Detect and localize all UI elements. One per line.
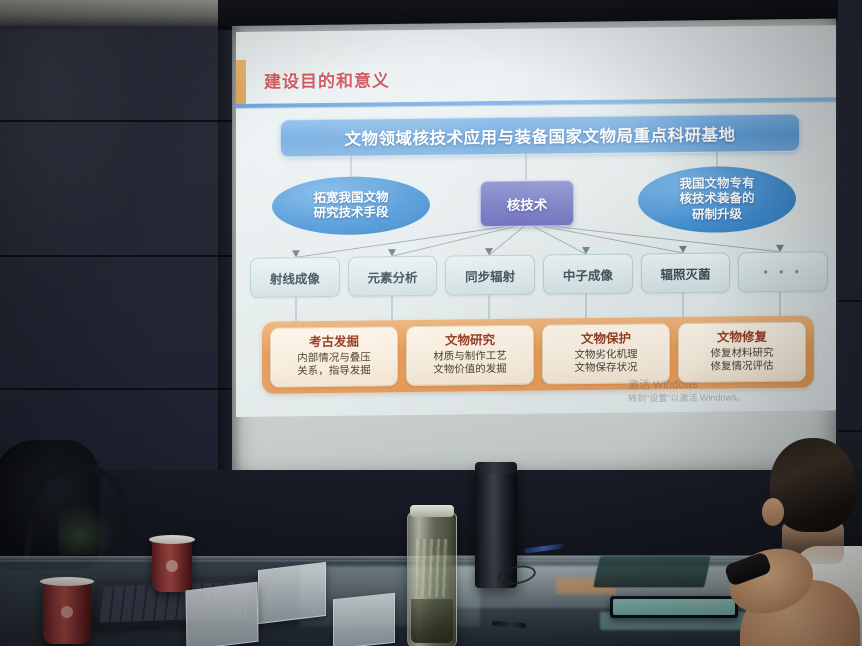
application-line1: 内部情况与叠压 bbox=[297, 351, 371, 365]
slide-accent-bar bbox=[236, 60, 246, 104]
placard-text bbox=[334, 594, 394, 646]
goal-right-line3: 研制升级 bbox=[692, 207, 742, 222]
technique-box: 辐照灭菌 bbox=[641, 252, 731, 293]
application-line1: 文物劣化机理 bbox=[575, 348, 638, 362]
tablet bbox=[593, 556, 712, 588]
smartphone bbox=[610, 596, 738, 618]
wall-seam bbox=[0, 255, 240, 257]
technique-box: 射线成像 bbox=[250, 257, 340, 298]
placard-text bbox=[186, 583, 257, 646]
application-box: 考古发掘 内部情况与叠压 关系，指导发掘 bbox=[270, 326, 398, 387]
application-box: 文物修复 修复材料研究 修复情况评估 bbox=[678, 322, 806, 383]
phone-screen bbox=[613, 599, 735, 615]
wall-seam bbox=[0, 388, 240, 390]
name-placard-2 bbox=[258, 562, 326, 624]
goal-node-right: 我国文物专有 核技术装备的 研制升级 bbox=[638, 166, 796, 234]
attendee-ear bbox=[762, 498, 784, 526]
thermos-cap bbox=[475, 462, 517, 474]
application-line2: 文物保存状况 bbox=[575, 361, 638, 375]
plant-foliage bbox=[58, 505, 114, 555]
application-line1: 修复材料研究 bbox=[711, 347, 774, 361]
goal-left-line1: 拓宽我国文物 bbox=[313, 190, 388, 205]
application-line2: 文物价值的发掘 bbox=[433, 363, 507, 377]
wall-seam bbox=[838, 300, 862, 302]
tea-glass-jar bbox=[407, 512, 457, 646]
technique-box: 元素分析 bbox=[348, 256, 438, 297]
technique-box-ellipsis: • • • bbox=[738, 251, 828, 292]
slide-title: 建设目的和意义 bbox=[264, 66, 390, 92]
cup-lid bbox=[149, 535, 195, 544]
coffee-cup-rear bbox=[152, 540, 192, 592]
presentation-slide: 建设目的和意义 文物领域核技术应用与装备国家文物局重点科研基地 bbox=[236, 25, 836, 417]
wall-light-glow bbox=[0, 30, 150, 290]
name-placard-1 bbox=[185, 582, 258, 646]
jar-lid bbox=[410, 505, 454, 517]
technique-box: 中子成像 bbox=[543, 253, 633, 294]
technique-box: 同步辐射 bbox=[445, 255, 535, 296]
seated-attendee bbox=[742, 438, 862, 646]
application-box: 文物保护 文物劣化机理 文物保存状况 bbox=[542, 323, 670, 384]
technique-row: 射线成像 元素分析 同步辐射 中子成像 辐照灭菌 • • • bbox=[250, 251, 828, 298]
goal-node-left: 拓宽我国文物 研究技术手段 bbox=[272, 176, 430, 236]
goal-right-line2: 核技术装备的 bbox=[679, 191, 754, 206]
application-line1: 材质与制作工艺 bbox=[433, 350, 507, 364]
application-title: 文物研究 bbox=[445, 334, 495, 348]
placard-text bbox=[259, 563, 325, 623]
cup-lid bbox=[40, 577, 94, 586]
application-box: 文物研究 材质与制作工艺 文物价值的发掘 bbox=[406, 325, 534, 386]
tea-leaves-suspended bbox=[416, 539, 448, 597]
slide-main-banner: 文物领域核技术应用与装备国家文物局重点科研基地 bbox=[280, 114, 800, 158]
application-line2: 修复情况评估 bbox=[711, 360, 774, 374]
screen-glare bbox=[473, 41, 738, 275]
watermark-line2: 转到"设置"以激活 Windows。 bbox=[628, 392, 745, 405]
application-title: 考古发掘 bbox=[309, 336, 359, 350]
wall-seam bbox=[0, 120, 240, 122]
ceiling bbox=[0, 0, 240, 26]
wall-seam bbox=[838, 430, 862, 432]
tea-leaves-settled bbox=[411, 599, 453, 643]
conference-room-photo: 建设目的和意义 文物领域核技术应用与装备国家文物局重点科研基地 bbox=[0, 0, 862, 646]
goal-right-line1: 我国文物专有 bbox=[679, 176, 754, 191]
goal-left-line2: 研究技术手段 bbox=[313, 205, 388, 220]
application-title: 文物修复 bbox=[717, 331, 767, 345]
coffee-cup-left bbox=[43, 582, 91, 644]
name-placard-3 bbox=[333, 593, 395, 646]
windows-activation-watermark: 激活 Windows 转到"设置"以激活 Windows。 bbox=[628, 378, 745, 404]
cup-logo bbox=[61, 606, 73, 618]
application-title: 文物保护 bbox=[581, 333, 631, 347]
application-line2: 关系，指导发掘 bbox=[297, 364, 371, 378]
cup-logo bbox=[166, 560, 178, 572]
center-node-nuclear-tech: 核技术 bbox=[480, 180, 574, 227]
watermark-line1: 激活 Windows bbox=[628, 378, 745, 393]
